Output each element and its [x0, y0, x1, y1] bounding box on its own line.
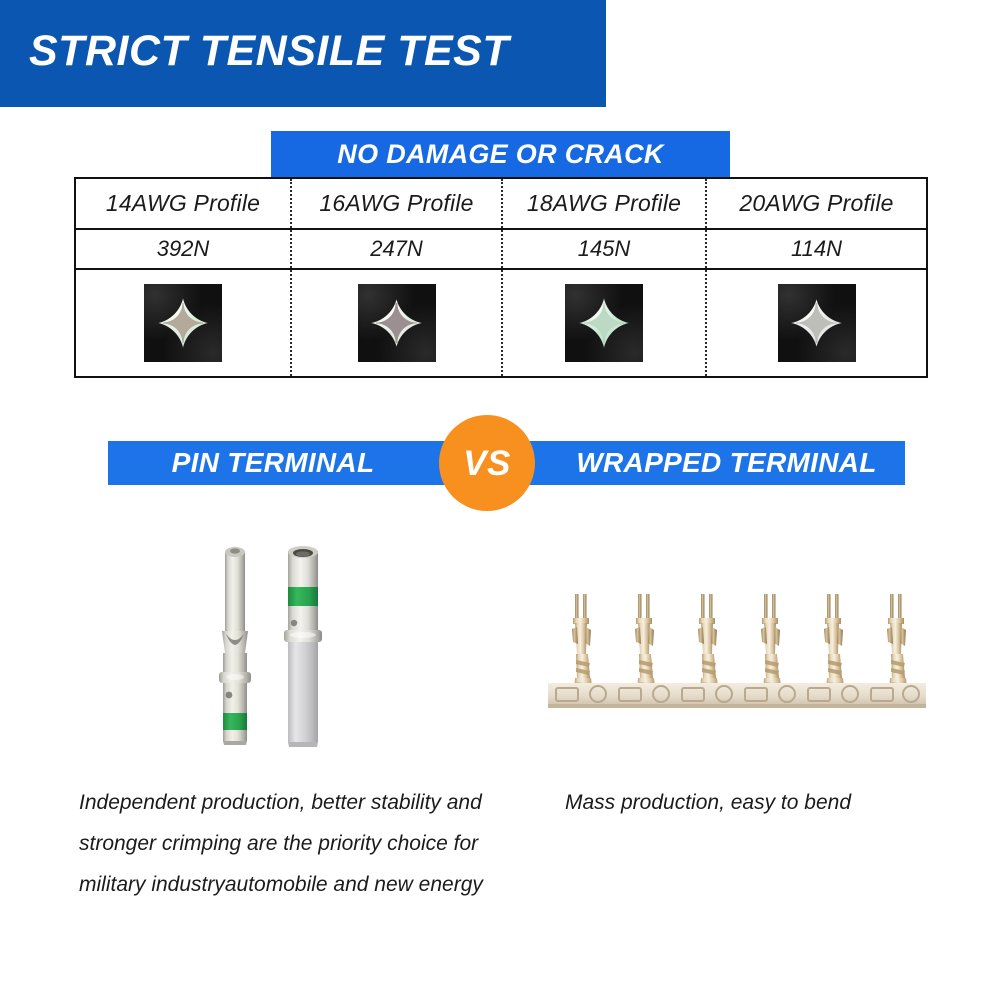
- column-header-label: 20AWG Profile: [739, 190, 893, 217]
- carrier-strip: [548, 683, 926, 708]
- tensile-spec-table: 14AWG Profile 16AWG Profile 18AWG Profil…: [74, 177, 928, 378]
- crimp-core-shape: [796, 303, 837, 344]
- cross-section-image-20awg: [778, 284, 856, 362]
- table-image-cell-2: [292, 270, 503, 376]
- wrapped-terminal-label: WRAPPED TERMINAL: [548, 441, 905, 485]
- table-header-row: 14AWG Profile 16AWG Profile 18AWG Profil…: [76, 179, 926, 230]
- wrapped-terminal-5: [824, 594, 845, 698]
- table-header-cell-4: 20AWG Profile: [707, 179, 926, 228]
- wrapped-terminal-3: [698, 594, 719, 698]
- wrapped-terminal-2: [635, 594, 656, 698]
- wrapped-terminal-caption: Mass production, easy to bend: [565, 782, 965, 823]
- table-value-cell-3: 145N: [503, 230, 707, 268]
- table-value-cell-1: 392N: [76, 230, 292, 268]
- wrapped-terminal-6: [887, 594, 908, 698]
- pin-terminal-illustration: [200, 535, 350, 765]
- table-header-cell-2: 16AWG Profile: [292, 179, 503, 228]
- table-image-row: [76, 270, 926, 376]
- column-header-label: 14AWG Profile: [106, 190, 260, 217]
- table-value-cell-4: 114N: [707, 230, 926, 268]
- vs-badge: VS: [439, 415, 535, 511]
- pin-terminal-caption: Independent production, better stability…: [79, 782, 529, 905]
- wrapped-terminal-illustration: [548, 578, 938, 718]
- cross-section-image-16awg: [358, 284, 436, 362]
- tensile-force-value: 247N: [370, 236, 423, 262]
- tensile-force-value: 392N: [157, 236, 210, 262]
- pin-terminal-label: PIN TERMINAL: [108, 441, 438, 485]
- table-image-cell-1: [76, 270, 292, 376]
- table-image-cell-3: [503, 270, 707, 376]
- tensile-force-value: 145N: [578, 236, 631, 262]
- crimp-core-shape: [584, 303, 625, 344]
- table-value-row: 392N 247N 145N 114N: [76, 230, 926, 270]
- wrapped-terminal-photo: [548, 578, 938, 718]
- no-damage-banner-label: NO DAMAGE OR CRACK: [271, 131, 730, 178]
- vs-badge-label: VS: [439, 415, 535, 511]
- tensile-force-value: 114N: [791, 236, 842, 262]
- wrapped-terminal-4: [761, 594, 782, 698]
- crimp-core-shape: [163, 303, 204, 344]
- male-pin: [219, 547, 251, 746]
- female-socket: [284, 546, 322, 747]
- column-header-label: 18AWG Profile: [527, 190, 681, 217]
- table-image-cell-4: [707, 270, 926, 376]
- crimp-core-shape: [376, 303, 417, 344]
- table-value-cell-2: 247N: [292, 230, 503, 268]
- cross-section-image-14awg: [144, 284, 222, 362]
- pin-terminal-photo: [200, 535, 350, 765]
- page-title: STRICT TENSILE TEST: [29, 27, 509, 76]
- wrapped-terminal-1: [572, 594, 593, 698]
- cross-section-image-18awg: [565, 284, 643, 362]
- column-header-label: 16AWG Profile: [319, 190, 473, 217]
- table-header-cell-1: 14AWG Profile: [76, 179, 292, 228]
- table-header-cell-3: 18AWG Profile: [503, 179, 707, 228]
- no-damage-banner: NO DAMAGE OR CRACK: [271, 131, 730, 178]
